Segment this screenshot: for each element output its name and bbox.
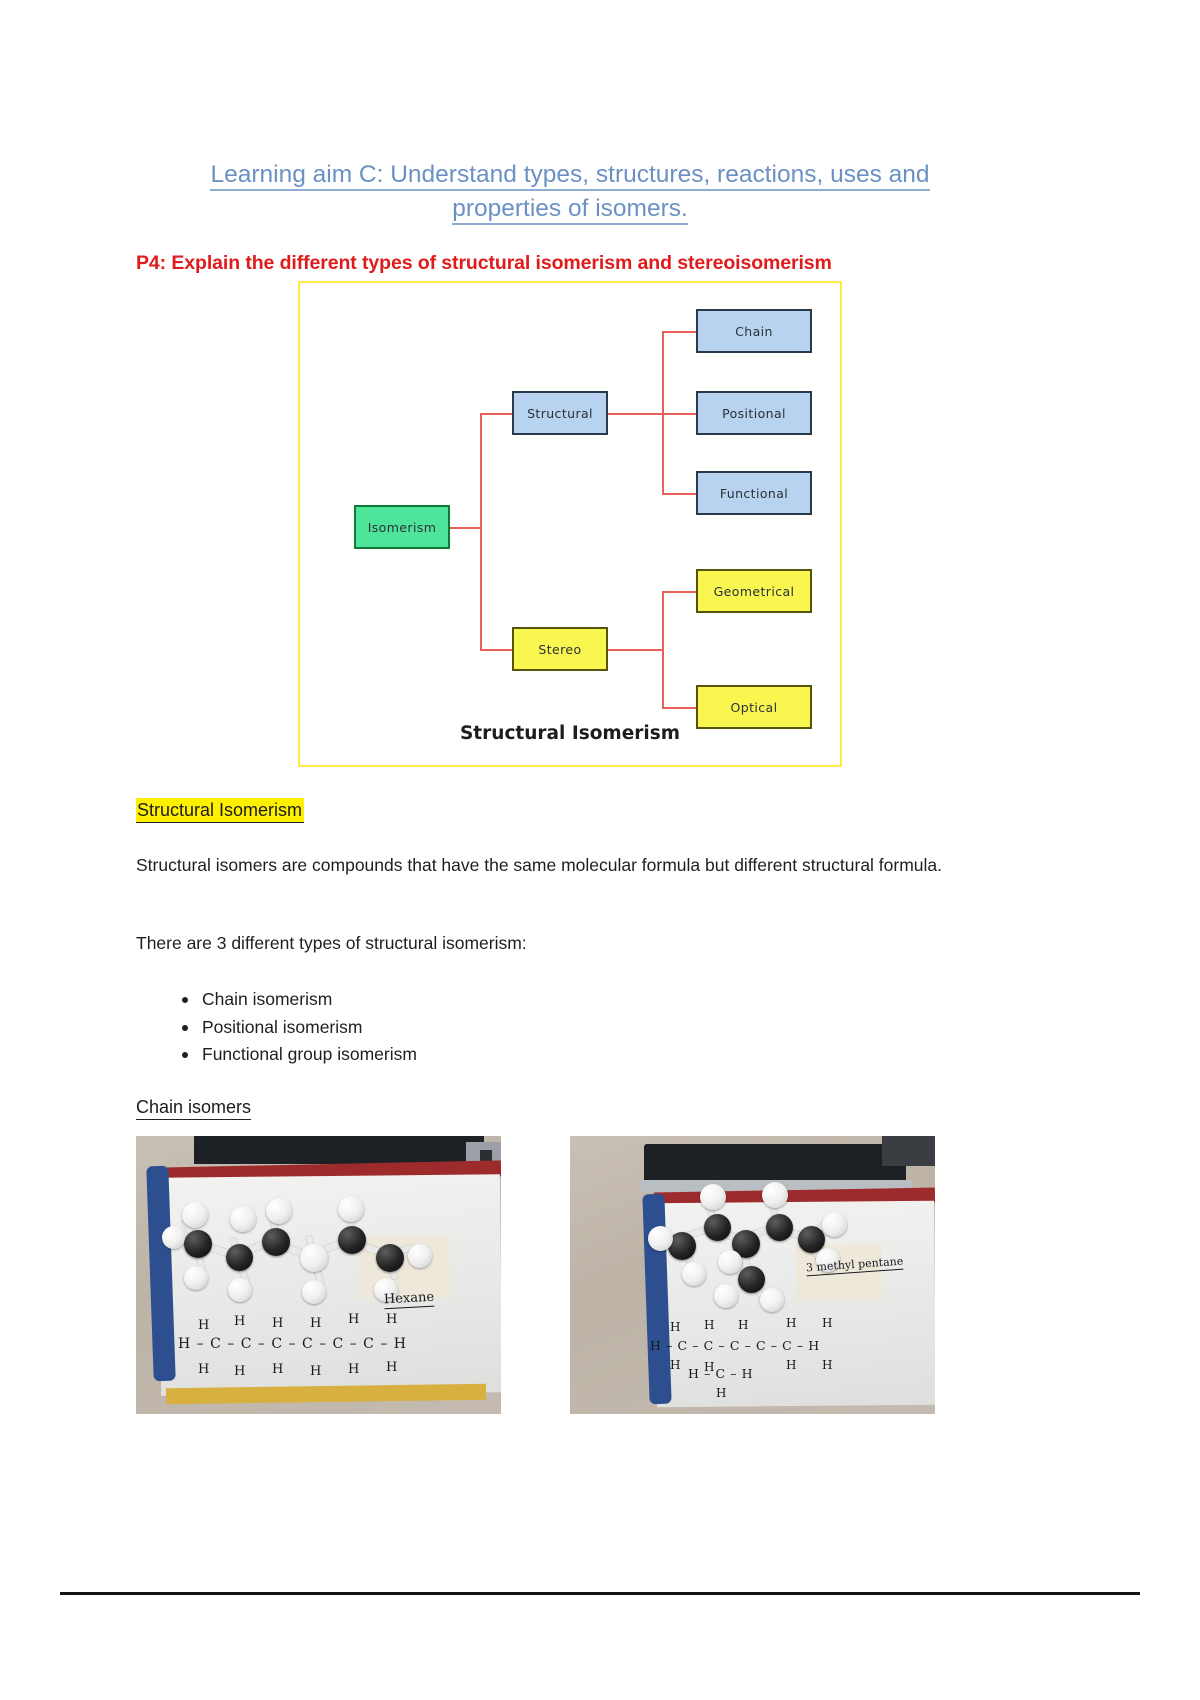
node-stereo[interactable]: Stereo (512, 627, 608, 671)
connector-root-to-spine (448, 527, 480, 529)
connector-spine-vertical (480, 413, 482, 651)
formula-h-top: H (822, 1316, 832, 1330)
atom-carbon (184, 1230, 212, 1258)
atom-hydrogen (184, 1266, 208, 1290)
node-structural[interactable]: Structural (512, 391, 608, 435)
page-title-line-1: Learning aim C: Understand types, struct… (210, 161, 929, 191)
list-item: Functional group isomerism (202, 1041, 417, 1069)
figure-caption: Structural Isomerism (300, 723, 840, 744)
connector-branch-to-positional (662, 413, 696, 415)
formula-h-top: H (272, 1316, 283, 1331)
connector-spine-to-stereo (480, 649, 512, 651)
node-geometrical[interactable]: Geometrical (696, 569, 812, 613)
atom-hydrogen (230, 1206, 256, 1232)
atom-hydrogen (182, 1202, 208, 1228)
atom-hydrogen (714, 1284, 738, 1308)
node-structural-label: Structural (527, 406, 593, 421)
handwritten-label-hexane: Hexane (384, 1290, 435, 1310)
list-item: Chain isomerism (202, 986, 417, 1014)
node-isomerism-label: Isomerism (368, 520, 437, 535)
formula-h-top: H (348, 1312, 359, 1327)
node-chain-label: Chain (735, 324, 773, 339)
formula-main-chain: H – C – C – C – C – C – H (650, 1338, 820, 1353)
atom-hydrogen (408, 1244, 432, 1268)
node-optical-label: Optical (731, 700, 778, 715)
formula-h-top: H (310, 1316, 321, 1331)
atom-hydrogen (822, 1212, 847, 1237)
formula-branch-bottom-h: H (716, 1386, 726, 1400)
formula-h-top: H (738, 1318, 748, 1332)
photo-3-methyl-pentane-model: 3 methyl pentane H H H H H H – C – C – C… (570, 1136, 935, 1414)
connector-branch-to-geometrical (662, 591, 696, 593)
p4-heading: P4: Explain the different types of struc… (136, 252, 832, 275)
formula-h-top: H (386, 1312, 397, 1327)
photo-hexane-model: Hexane H H H H H H H – C – C – C – C – C… (136, 1136, 501, 1414)
subheading-chain-isomers: Chain isomers (136, 1096, 251, 1120)
atom-hydrogen (760, 1288, 784, 1312)
subheading-structural-isomerism: Structural Isomerism (136, 798, 304, 823)
formula-branch: H – C – H (688, 1366, 753, 1381)
page-title-line-2: properties of isomers. (452, 195, 688, 225)
atom-carbon (226, 1244, 253, 1271)
atom-hydrogen (648, 1226, 673, 1251)
isomerism-types-list: Chain isomerism Positional isomerism Fun… (168, 986, 417, 1069)
node-functional[interactable]: Functional (696, 471, 812, 515)
atom-carbon (262, 1228, 290, 1256)
atom-hydrogen (162, 1226, 185, 1249)
connector-branch-to-functional (662, 493, 696, 495)
formula-h-bottom: H (386, 1360, 397, 1375)
atom-carbon (704, 1214, 731, 1241)
atom-hydrogen (700, 1184, 726, 1210)
photo-laptop-right (882, 1136, 935, 1166)
formula-h-bottom: H (348, 1362, 359, 1377)
node-positional-label: Positional (722, 406, 786, 421)
formula-h-bottom: H (670, 1358, 680, 1372)
connector-stereo-to-branch (608, 649, 664, 651)
node-stereo-label: Stereo (538, 642, 581, 657)
node-positional[interactable]: Positional (696, 391, 812, 435)
formula-h-bottom: H (310, 1364, 321, 1379)
photo-laptop (194, 1136, 484, 1164)
connector-stereo-branch-vertical (662, 591, 664, 709)
connector-branch-to-optical (662, 707, 696, 709)
node-geometrical-label: Geometrical (714, 584, 795, 599)
atom-carbon (338, 1226, 366, 1254)
isomerism-flowchart-figure: Isomerism Structural Stereo Chain Positi… (298, 281, 842, 767)
atom-hydrogen (718, 1250, 742, 1274)
formula-h-bottom: H (786, 1358, 796, 1372)
page-bottom-rule (60, 1592, 1140, 1595)
page-title: Learning aim C: Understand types, struct… (185, 158, 955, 226)
atom-hydrogen (682, 1262, 706, 1286)
formula-main-chain: H – C – C – C – C – C – C – H (178, 1336, 407, 1352)
node-isomerism[interactable]: Isomerism (354, 505, 450, 549)
atom-carbon (766, 1214, 793, 1241)
connector-spine-to-structural (480, 413, 512, 415)
node-chain[interactable]: Chain (696, 309, 812, 353)
formula-h-top: H (198, 1318, 209, 1333)
formula-h-top: H (786, 1316, 796, 1330)
formula-h-top: H (670, 1320, 680, 1334)
atom-hydrogen (762, 1182, 788, 1208)
connector-structural-to-branch (608, 413, 664, 415)
atom-carbon-branch (738, 1266, 765, 1293)
formula-h-top: H (234, 1314, 245, 1329)
formula-h-top: H (704, 1318, 714, 1332)
node-functional-label: Functional (720, 486, 788, 501)
atom-carbon (376, 1244, 404, 1272)
flowchart-canvas: Isomerism Structural Stereo Chain Positi… (300, 283, 840, 723)
atom-hydrogen (228, 1278, 252, 1302)
atom-hydrogen (302, 1280, 326, 1304)
paragraph-three-types: There are 3 different types of structura… (136, 930, 1006, 957)
formula-h-bottom: H (198, 1362, 209, 1377)
atom-hydrogen (266, 1198, 292, 1224)
formula-h-bottom: H (822, 1358, 832, 1372)
paragraph-structural-isomers-definition: Structural isomers are compounds that ha… (136, 852, 1006, 879)
connector-branch-to-chain (662, 331, 696, 333)
atom-carbon (300, 1244, 328, 1272)
atom-hydrogen (338, 1196, 364, 1222)
formula-h-bottom: H (234, 1364, 245, 1379)
document-page: Learning aim C: Understand types, struct… (0, 0, 1200, 1700)
list-item: Positional isomerism (202, 1014, 417, 1042)
formula-h-bottom: H (272, 1362, 283, 1377)
